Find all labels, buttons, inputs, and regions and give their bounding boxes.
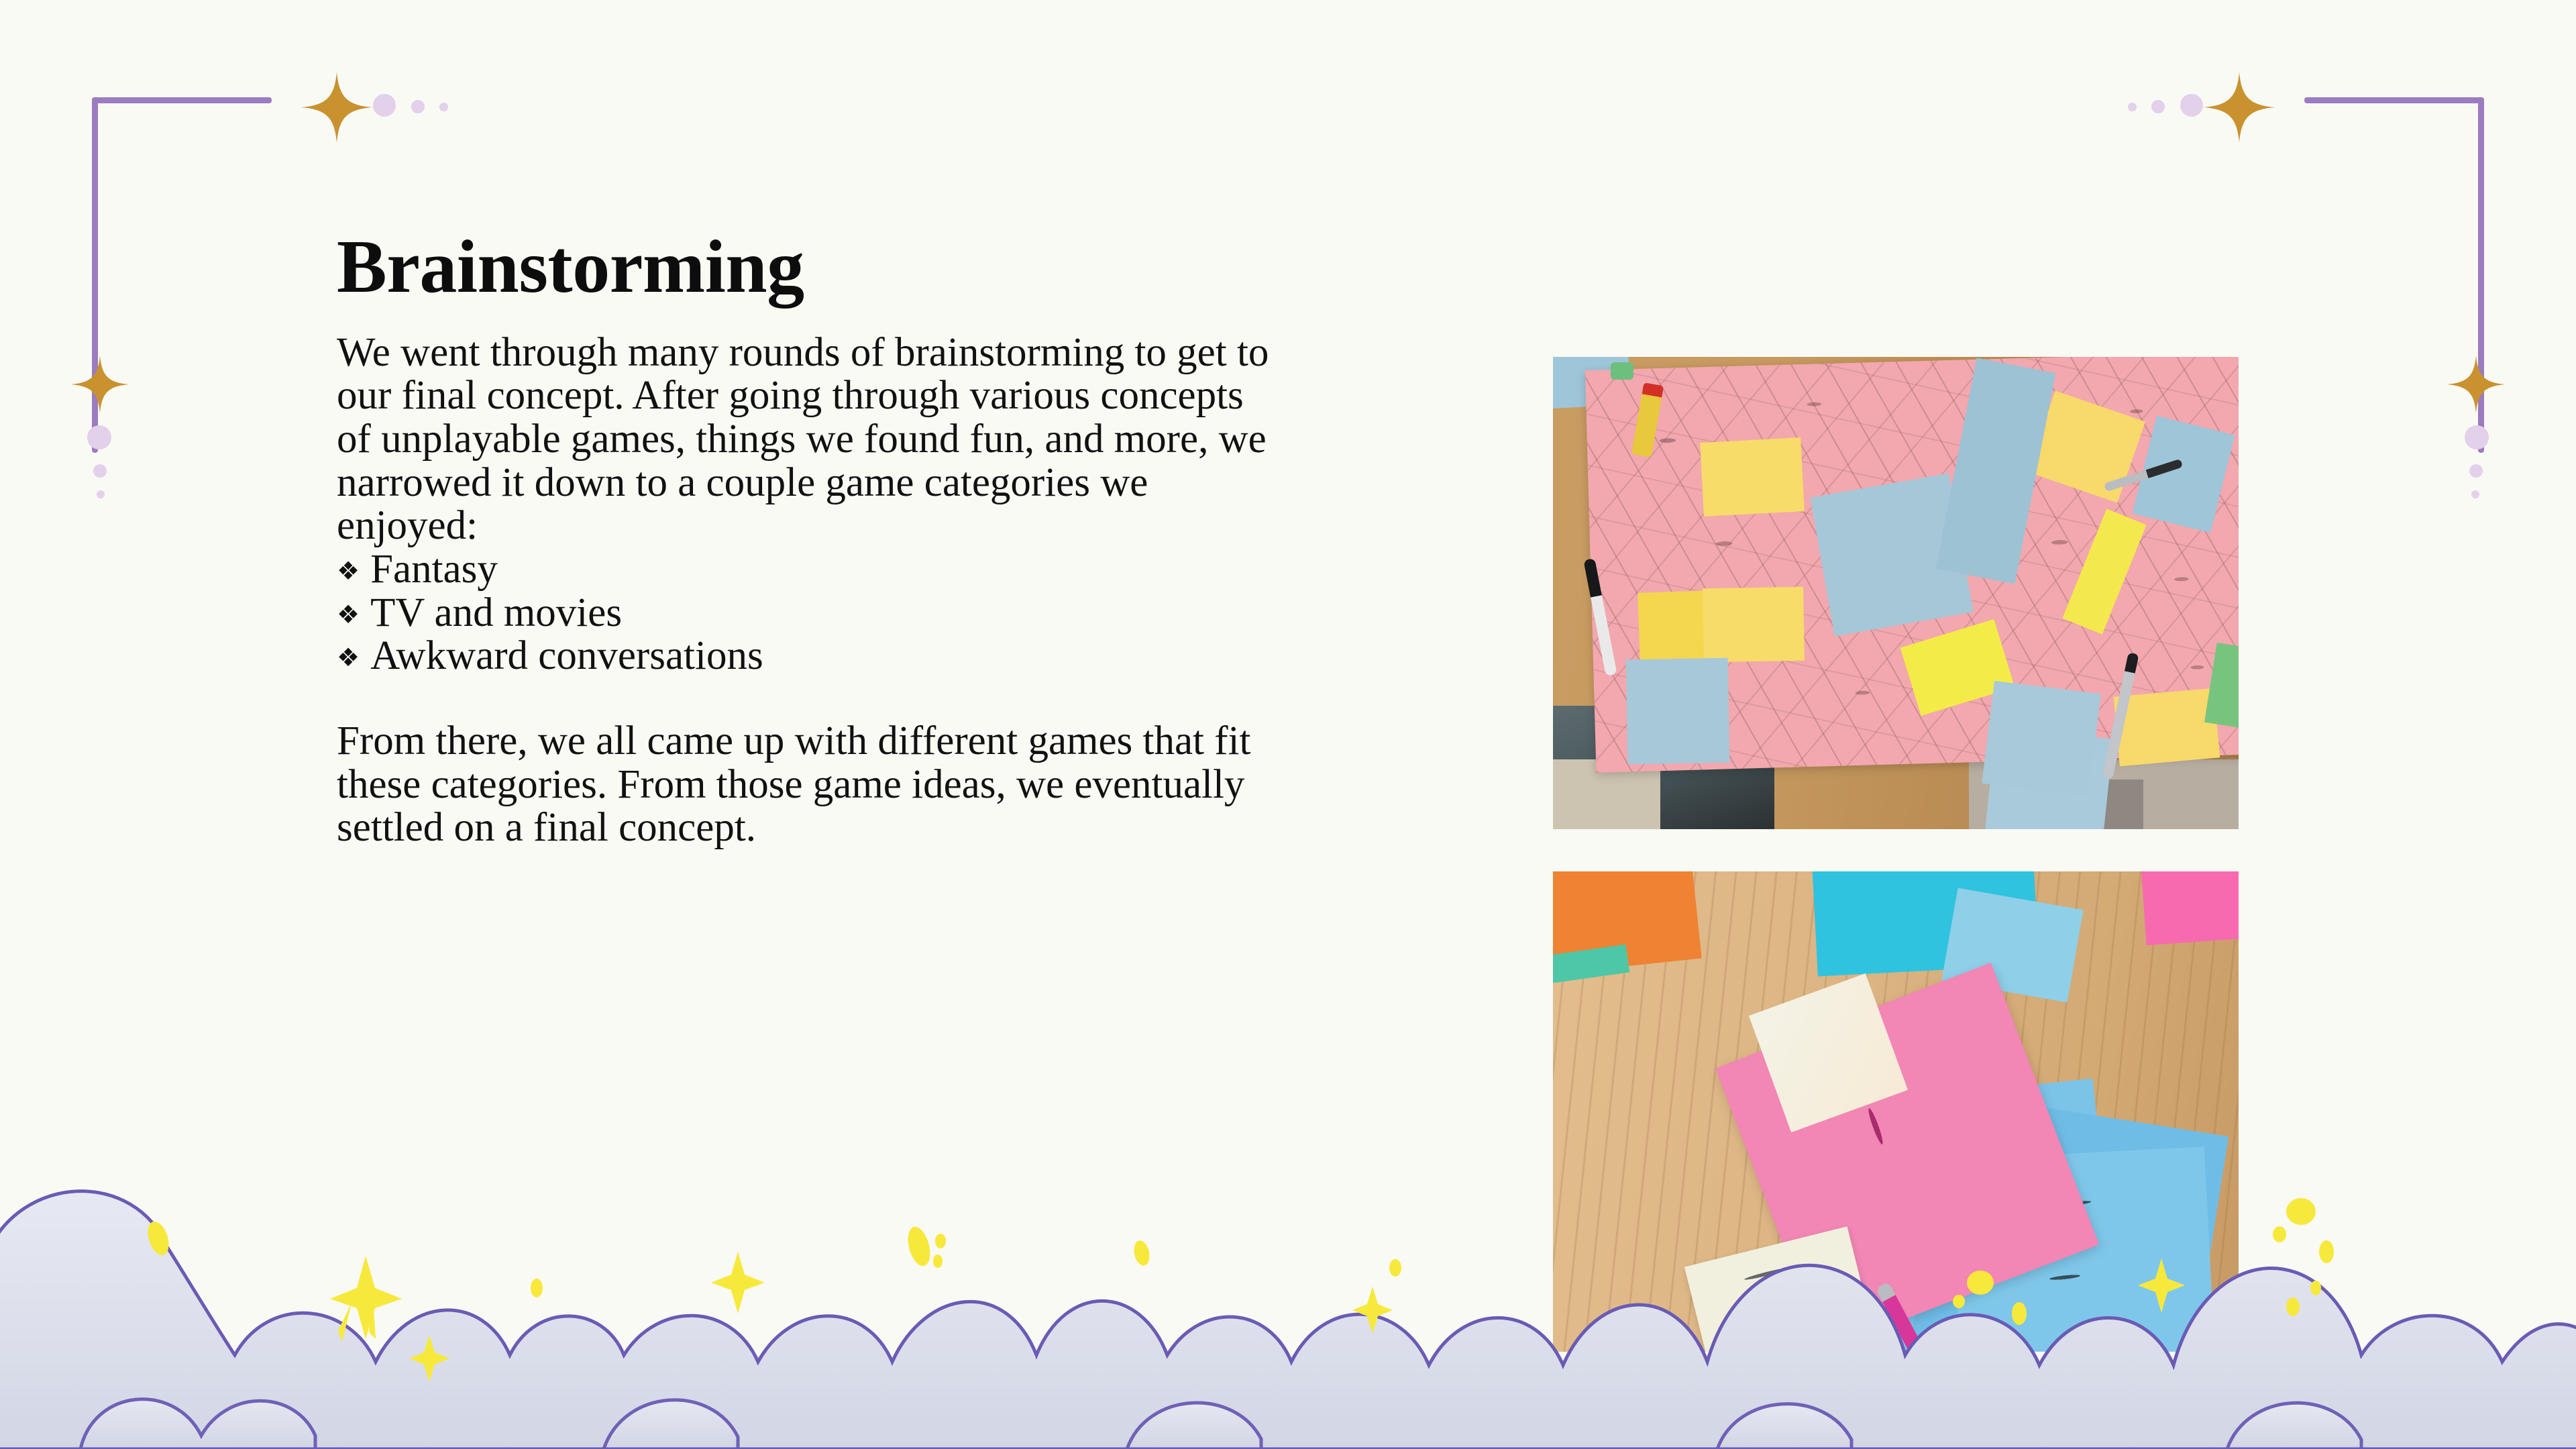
sparkle-icon-top-left: [300, 70, 374, 144]
index-card-blue: [1982, 681, 2101, 796]
sticky-note-yellow: [1638, 590, 1710, 664]
slide-canvas: Brainstorming We went through many round…: [0, 0, 2576, 1449]
decor-dot-small: [2128, 103, 2137, 111]
decor-dot-medium: [411, 100, 425, 113]
text-column: Brainstorming We went through many round…: [337, 228, 1276, 850]
decor-dot-small: [439, 103, 448, 111]
list-item-label: TV and movies: [370, 592, 622, 635]
list-item: ❖ Awkward conversations: [337, 635, 1276, 678]
bracket-vertical-line: [2478, 97, 2484, 453]
photo-content: [1553, 871, 2239, 1352]
brainstorm-poster-photo: [1553, 357, 2239, 829]
list-item: ❖ Fantasy: [337, 548, 1276, 592]
sparkle-icon-right-middle: [2446, 354, 2506, 415]
decor-dot-large: [373, 94, 396, 117]
sticky-note-yellow: [1703, 587, 1805, 663]
photo-content: [1553, 357, 2239, 829]
sparkle-icon-left-middle: [70, 354, 130, 415]
decor-dot-medium: [2469, 464, 2483, 478]
decor-dot-medium: [2151, 100, 2165, 113]
page-title: Brainstorming: [337, 228, 1276, 307]
diamond-bullet-icon: ❖: [337, 559, 360, 584]
decor-dot-medium: [93, 464, 107, 478]
diamond-bullet-icon: ❖: [337, 602, 360, 628]
corner-bracket-top-right: [2304, 97, 2484, 453]
list-item: ❖ TV and movies: [337, 592, 1276, 635]
index-card-blue: [1626, 658, 1730, 765]
game-category-list: ❖ Fantasy ❖ TV and movies ❖ Awkward conv…: [337, 548, 1276, 678]
bracket-horizontal-line: [2304, 97, 2484, 103]
list-item-label: Awkward conversations: [370, 635, 763, 678]
game-ideas-cards-photo: [1553, 871, 2239, 1352]
decor-dot-small: [2471, 490, 2479, 498]
bracket-horizontal-line: [92, 97, 272, 103]
decor-dot-large: [2180, 94, 2203, 117]
decor-dot-large: [87, 425, 111, 449]
closing-paragraph: From there, we all came up with differen…: [337, 720, 1276, 850]
index-card-hot-pink: [2141, 871, 2239, 945]
intro-paragraph: We went through many rounds of brainstor…: [337, 331, 1276, 548]
sparkle-icon-top-right: [2202, 70, 2276, 144]
handwritten-list: [1703, 1248, 1861, 1352]
green-clip: [1611, 362, 1633, 380]
sticky-note-yellow: [2114, 688, 2220, 767]
corner-bracket-top-left: [92, 97, 272, 453]
diamond-bullet-icon: ❖: [337, 645, 360, 671]
decor-dot-large: [2465, 425, 2489, 449]
sticky-note-yellow: [1700, 437, 1805, 517]
list-item-label: Fantasy: [370, 548, 498, 592]
bracket-vertical-line: [92, 97, 98, 453]
decor-dot-small: [97, 490, 105, 498]
